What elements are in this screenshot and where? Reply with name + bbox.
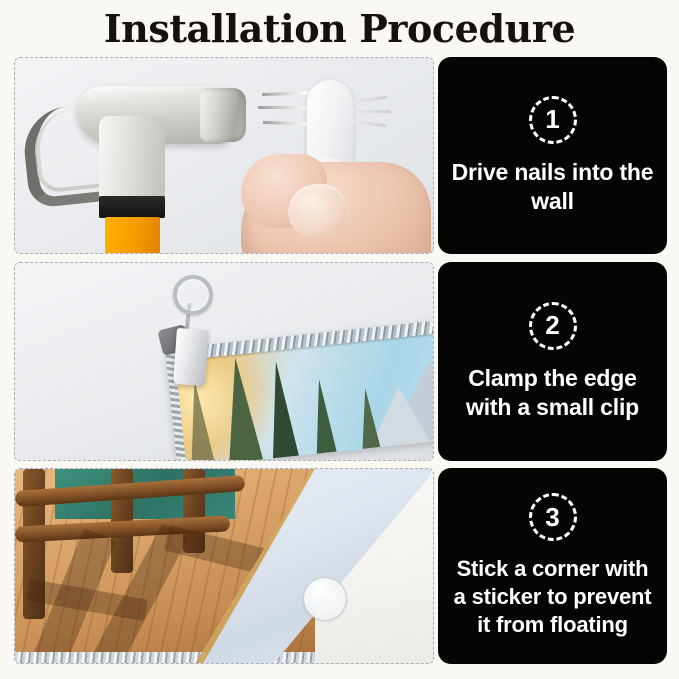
step-1-description: Drive nails into the wall: [438, 158, 667, 216]
step-1-text-panel: 1 Drive nails into the wall: [438, 57, 667, 254]
clip-body: [173, 328, 209, 386]
step-number-badge-1: 1: [529, 96, 577, 144]
page-title: Installation Procedure: [0, 6, 679, 52]
clip-ring-icon: [173, 275, 213, 315]
step-number-badge-2: 2: [529, 302, 577, 350]
tapestry-corner-with-sticker-photo: [15, 469, 433, 663]
nail-icon: [353, 110, 391, 113]
hammer-and-nail-hook-photo: [15, 58, 433, 253]
step-3-photo-panel: [14, 468, 434, 664]
round-sticker-icon: [303, 577, 347, 621]
hammer-neck: [99, 116, 165, 200]
step-row-2: 2 Clamp the edge with a small clip: [14, 262, 667, 461]
step-number-badge-3: 3: [529, 493, 577, 541]
step-1-photo-panel: [14, 57, 434, 254]
step-2-description: Clamp the edge with a small clip: [438, 364, 667, 422]
step-3-text-panel: 3 Stick a corner with a sticker to preve…: [438, 468, 667, 664]
infographic-page: Installation Procedure: [0, 0, 679, 679]
hammer-grip: [105, 217, 160, 253]
hammer-face: [200, 88, 246, 142]
step-2-text-panel: 2 Clamp the edge with a small clip: [438, 262, 667, 461]
step-row-1: 1 Drive nails into the wall: [14, 57, 667, 254]
step-row-3: 3 Stick a corner with a sticker to preve…: [14, 468, 667, 664]
step-2-photo-panel: [14, 262, 434, 461]
clip-holding-tapestry-photo: [15, 263, 433, 460]
hammer-collar: [99, 196, 165, 218]
step-3-description: Stick a corner with a sticker to prevent…: [438, 555, 667, 639]
